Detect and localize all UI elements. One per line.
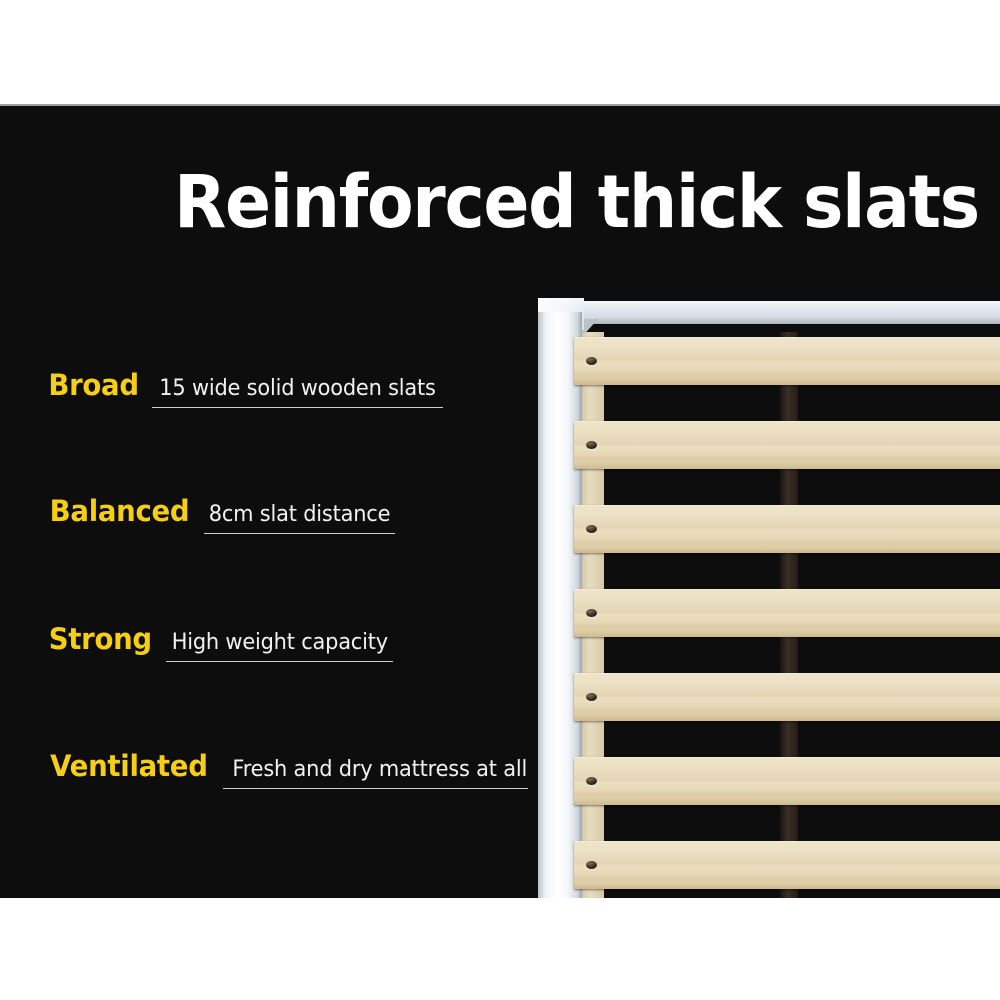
screw-icon <box>586 441 597 449</box>
bed-slat-photo <box>528 286 1000 898</box>
feature-term: Ventilated <box>50 749 207 783</box>
feature-term: Strong <box>49 622 152 656</box>
page-title: Reinforced thick slats <box>174 166 881 239</box>
feature-item-broad: Broad 15 wide solid wooden slats <box>46 368 443 408</box>
wooden-slat <box>574 337 1000 385</box>
feature-term: Balanced <box>50 494 190 528</box>
banner-top-hairline <box>0 104 1000 106</box>
feature-item-balanced: Balanced 8cm slat distance <box>46 494 395 534</box>
frame-top-rail <box>570 301 1000 324</box>
screw-icon <box>586 777 597 785</box>
wooden-slat <box>574 673 1000 721</box>
wooden-slat <box>574 421 1000 469</box>
feature-desc-underline: 8cm slat distance <box>204 504 395 534</box>
product-feature-image: Reinforced thick slats Broad 15 wide sol… <box>0 0 1000 1000</box>
feature-description: High weight capacity <box>171 632 387 654</box>
feature-description: 15 wide solid wooden slats <box>159 378 435 400</box>
screw-icon <box>586 525 597 533</box>
feature-item-strong: Strong High weight capacity <box>46 622 393 662</box>
feature-term: Broad <box>48 368 138 402</box>
screw-icon <box>586 609 597 617</box>
black-banner-panel: Reinforced thick slats Broad 15 wide sol… <box>0 104 1000 898</box>
feature-description: 8cm slat distance <box>209 504 390 526</box>
wooden-slat <box>574 589 1000 637</box>
feature-desc-underline: High weight capacity <box>166 632 394 662</box>
screw-icon <box>586 861 597 869</box>
wooden-slat <box>574 757 1000 805</box>
wooden-slat <box>574 505 1000 553</box>
feature-desc-underline: 15 wide solid wooden slats <box>152 378 443 408</box>
feature-item-ventilated: Ventilated Fresh and dry mattress at all… <box>46 749 600 789</box>
wooden-slat <box>574 841 1000 889</box>
screw-icon <box>586 357 597 365</box>
screw-icon <box>586 693 597 701</box>
